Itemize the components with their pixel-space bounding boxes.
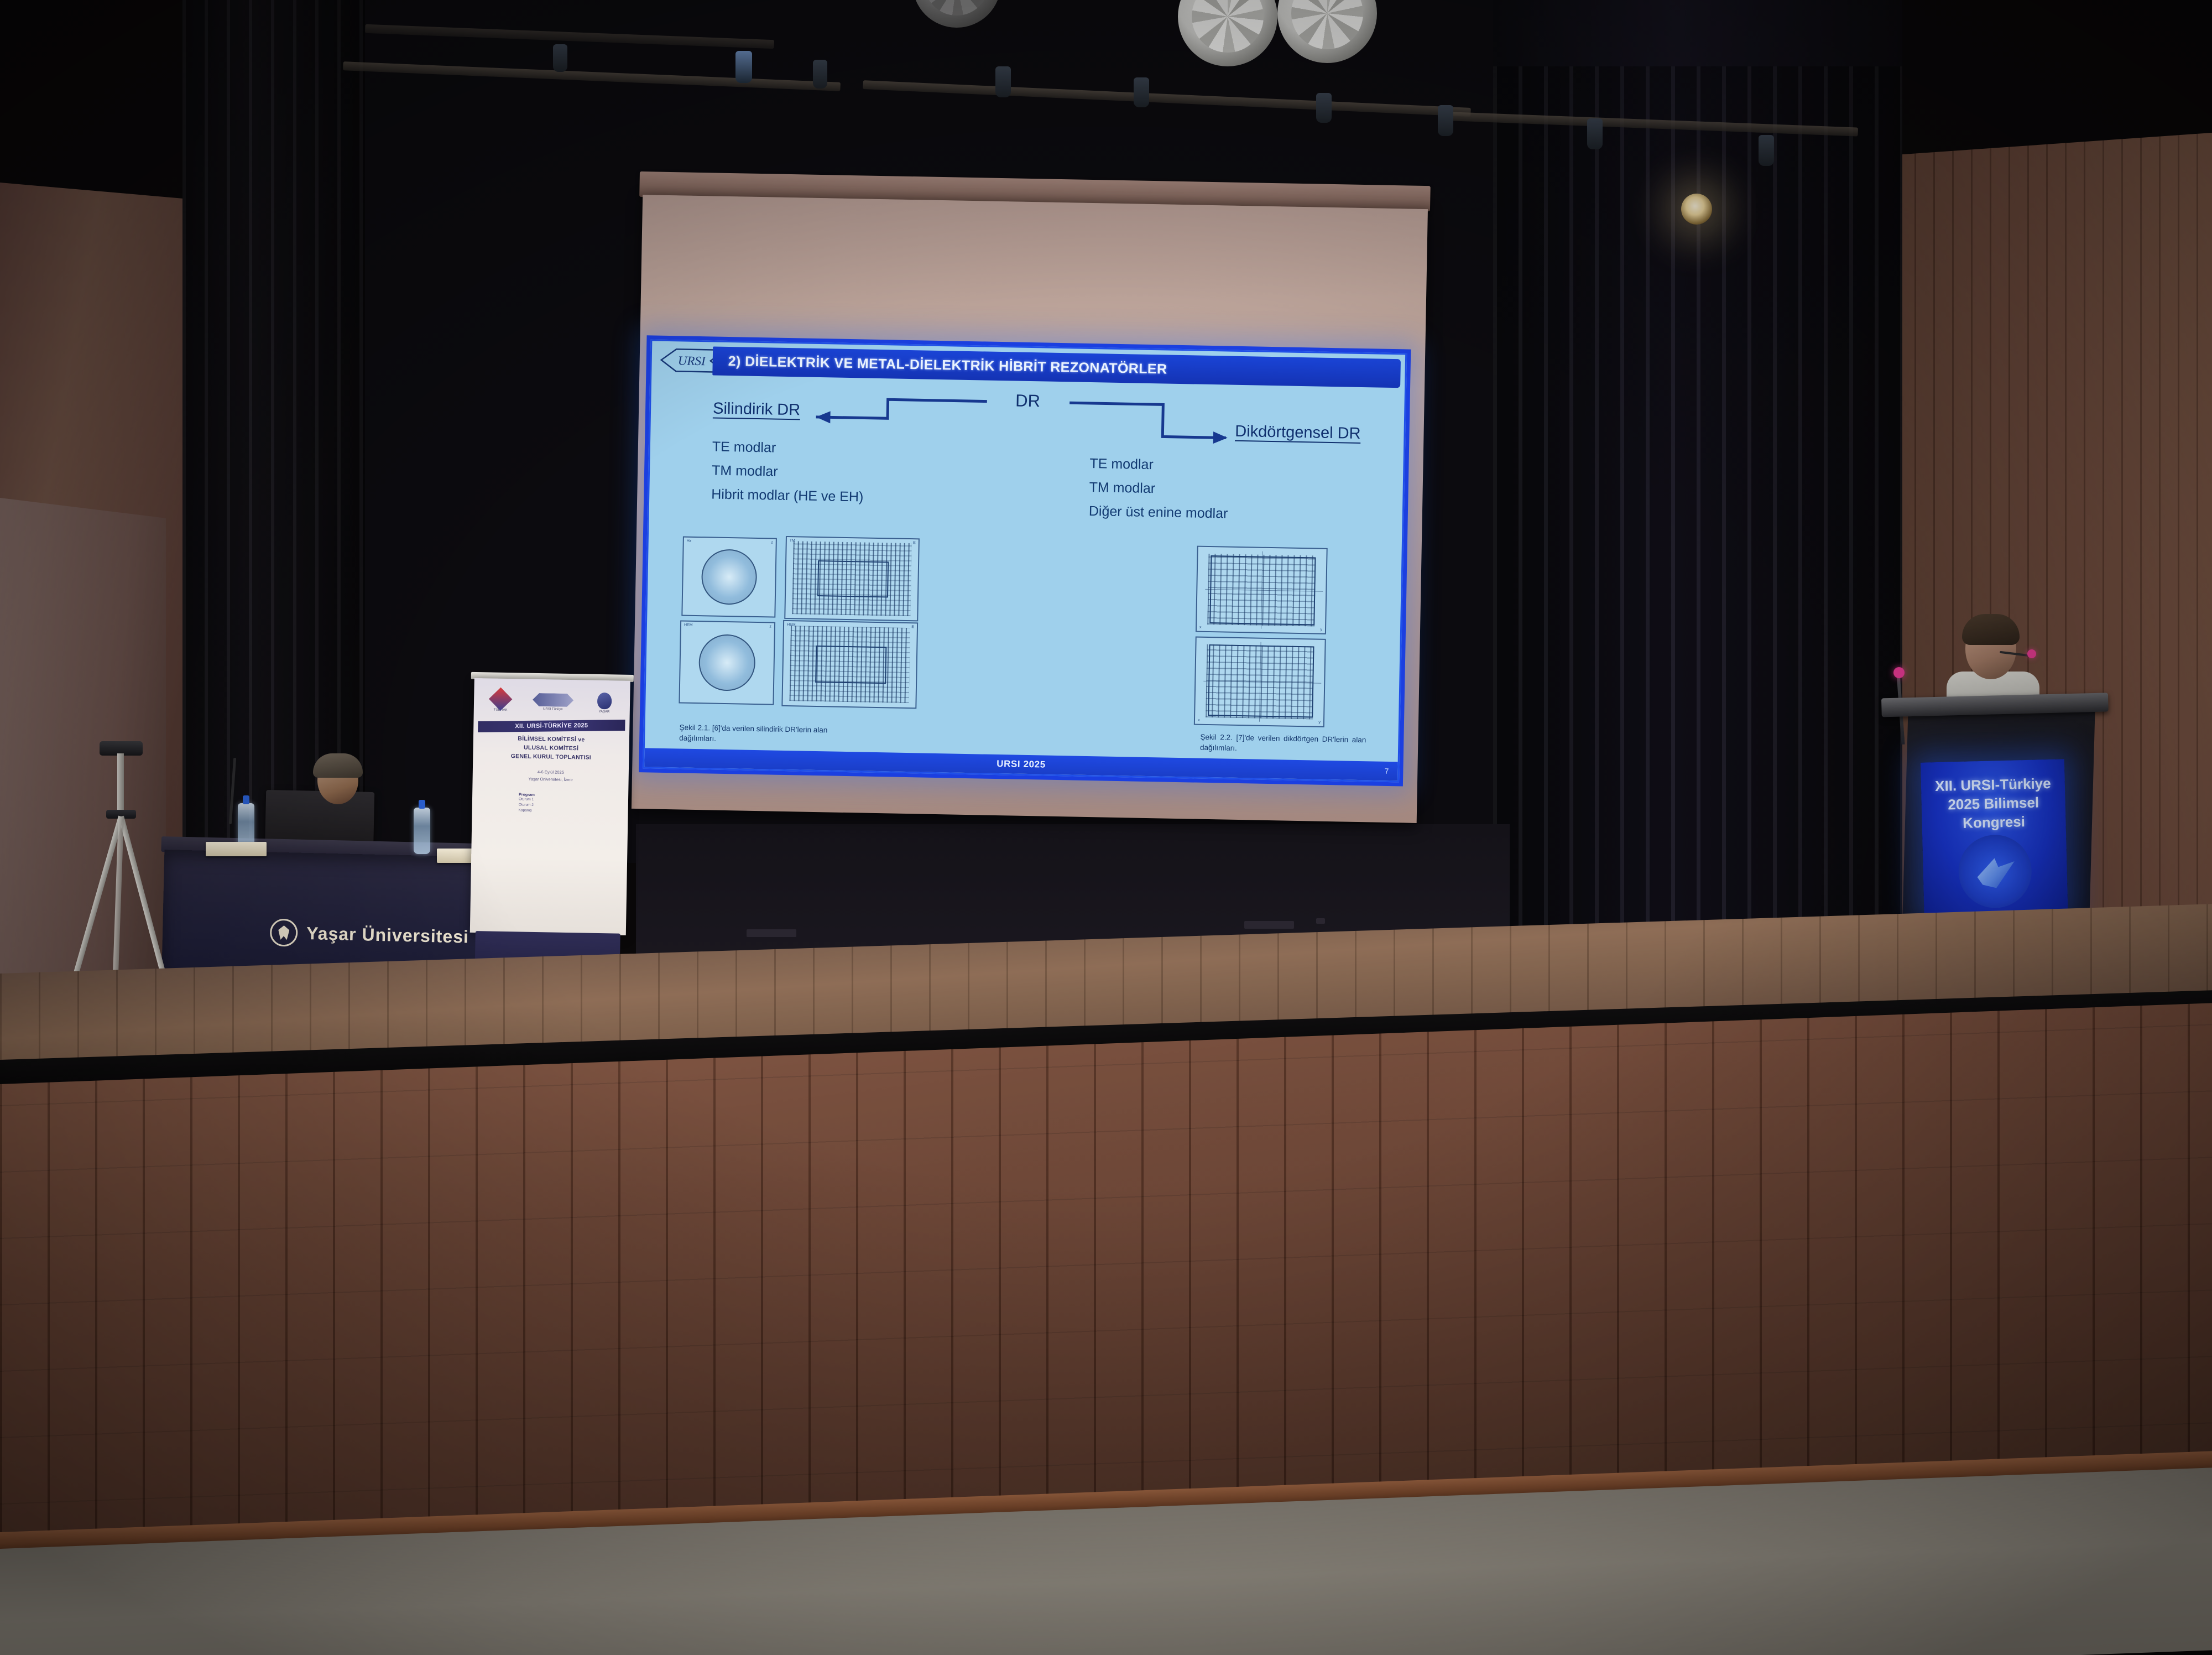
event-logo-mark-icon [1975, 857, 2015, 888]
svg-text:URSI: URSI [678, 353, 707, 368]
ursi-logo-icon [533, 693, 573, 707]
cylindrical-mode-list: TE modlar TM modlar Hibrit modlar (HE ve… [711, 435, 864, 509]
footer-label: URSI 2025 [997, 758, 1046, 771]
sponsor-logo-3: YAŞAR [597, 693, 612, 714]
lectern-sign-line1: XII. URSI-Türkiye [1921, 773, 2065, 795]
mode-item: Diğer üst enine modlar [1088, 499, 1228, 526]
slide-page-number: 7 [1384, 767, 1389, 776]
mode-item: Hibrit modlar (HE ve EH) [711, 482, 864, 509]
seated-person-hair [313, 753, 363, 778]
stage-lamp [1134, 77, 1149, 107]
circular-field-plot [698, 634, 756, 691]
name-plate [206, 842, 267, 856]
speaker-hair [1962, 614, 2020, 645]
figure-cyl-c: HEM z [679, 620, 775, 705]
resonator-outline [817, 560, 889, 598]
mode-item: TM modlar [712, 459, 864, 485]
wall-fixture [1316, 918, 1325, 924]
sponsor-caption: YAŞAR [597, 710, 611, 714]
seated-person [307, 757, 365, 810]
figure-cyl-b: TM E [784, 536, 920, 621]
slide-title-bar: 2) DİELEKTRİK VE METAL-DİELEKTRİK HİBRİT… [712, 346, 1401, 388]
resonator-outline [815, 646, 887, 684]
stage-lamp [1587, 118, 1603, 149]
mode-item: TE modlar [712, 435, 865, 461]
sponsor-caption: URSI Türkiye [533, 707, 573, 711]
figure-cyl-a: Hz z [681, 537, 777, 618]
projection-screen: URSI 2) DİELEKTRİK VE METAL-DİELEKTRİK H… [628, 171, 1519, 843]
figure-caption-right: Şekil 2.2. [7]'de verilen dikdörtgen DR'… [1200, 732, 1366, 756]
university-name: Yaşar Üniversitesi [306, 923, 469, 947]
sponsor-logo-1: TÜBİTAK [492, 691, 509, 712]
sponsor-logo-2: URSI Türkiye [533, 693, 574, 711]
event-logo-icon [1958, 834, 2032, 909]
figure-cyl-d: HEM E [781, 620, 918, 709]
university-emblem-icon [270, 919, 298, 947]
banner-sheet: TÜBİTAK URSI Türkiye YAŞAR XII. URSİ-TÜR… [470, 678, 630, 935]
stage-lamp [1438, 105, 1453, 136]
stage-lamp [995, 66, 1011, 97]
stage-lamp [735, 51, 752, 83]
figure-rect-a: x y [1196, 546, 1328, 634]
mode-item: TE modlar [1089, 452, 1229, 478]
banner-ribbon-title: XII. URSİ-TÜRKİYE 2025 [478, 720, 625, 732]
branch-label-rectangular: Dikdörtgensel DR [1235, 423, 1361, 443]
stage-lamp [1759, 135, 1774, 166]
water-bottle [414, 808, 430, 854]
lit-spotlight [1681, 194, 1712, 225]
slide-title: 2) DİELEKTRİK VE METAL-DİELEKTRİK HİBRİT… [728, 353, 1167, 377]
lectern-sign-line3: Kongresi [1922, 811, 2066, 833]
university-logo: Yaşar Üniversitesi [270, 919, 469, 951]
stage-lamp [813, 60, 827, 89]
banner-list-item: Kapanış [519, 808, 622, 815]
banner-program-list: Program Oturum 1 Oturum 2 Kapanış [479, 792, 622, 815]
rectangular-mode-list: TE modlar TM modlar Diğer üst enine modl… [1088, 452, 1229, 526]
stage-lamp [1316, 93, 1332, 123]
banner-sponsor-logos: TÜBİTAK URSI Türkiye YAŞAR [481, 690, 624, 714]
projected-slide-frame: URSI 2) DİELEKTRİK VE METAL-DİELEKTRİK H… [639, 335, 1411, 786]
yasar-logo-icon [597, 693, 612, 709]
figure-rect-b: x y [1194, 637, 1326, 727]
mode-item: TM modlar [1089, 476, 1228, 502]
stage-lamp [553, 44, 567, 72]
banner-location: Yaşar Üniversitesi, İzmir [479, 775, 622, 784]
lectern-event-sign: XII. URSI-Türkiye 2025 Bilimsel Kongresi [1921, 759, 2068, 917]
headset-mic-icon [2027, 649, 2036, 658]
tripod-center-column [117, 753, 124, 813]
figure-caption-left: Şekil 2.1. [6]'da verilen silindirik DR'… [679, 722, 840, 746]
conference-hall-photo: URSI 2) DİELEKTRİK VE METAL-DİELEKTRİK H… [0, 0, 2212, 1655]
presentation-slide: URSI 2) DİELEKTRİK VE METAL-DİELEKTRİK H… [643, 339, 1407, 782]
tubitak-logo-icon [489, 688, 512, 711]
wall-vent [747, 929, 796, 937]
podium-microphone-icon [1893, 667, 1905, 678]
banner-heading-3: GENEL KURUL TOPLANTISI [479, 751, 622, 763]
screen-surface: URSI 2) DİELEKTRİK VE METAL-DİELEKTRİK H… [632, 195, 1428, 823]
roll-up-banner: TÜBİTAK URSI Türkiye YAŞAR XII. URSİ-TÜR… [469, 672, 630, 985]
branch-label-cylindrical: Silindirik DR [713, 399, 801, 419]
wall-vent [1244, 921, 1294, 929]
circular-field-plot [701, 549, 758, 605]
